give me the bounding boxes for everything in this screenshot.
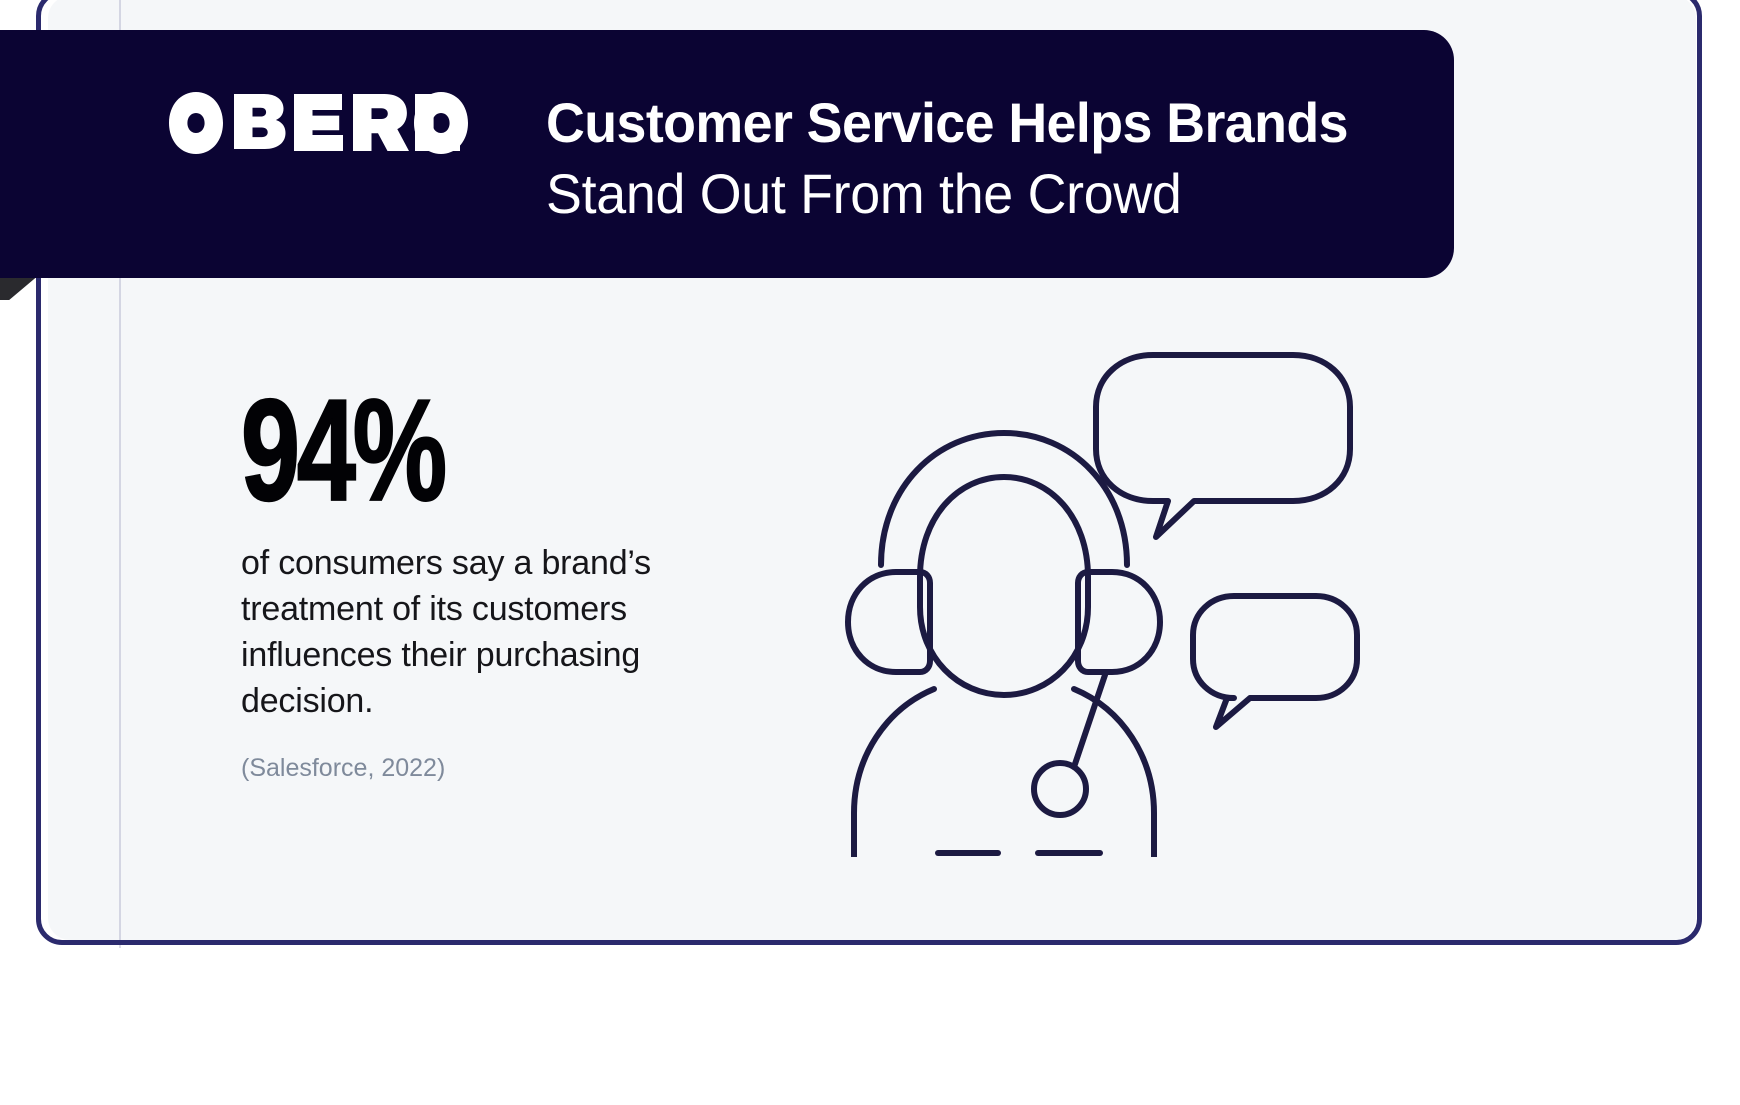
header-title-line-2: Stand Out From the Crowd — [546, 158, 1410, 230]
speech-bubble-small — [1193, 596, 1357, 727]
oberlo-logo — [168, 92, 468, 154]
speech-bubble-large — [1096, 355, 1350, 537]
content-area: 94% of consumers say a brand’s treatment… — [48, 282, 1696, 942]
headset-headband — [881, 433, 1127, 565]
customer-support-illustration — [838, 337, 1378, 857]
stat-description: of consumers say a brand’s treatment of … — [241, 540, 731, 724]
infographic-root: Customer Service Helps Brands Stand Out … — [0, 0, 1740, 1105]
header-title-line-1: Customer Service Helps Brands — [546, 88, 1410, 158]
header-title: Customer Service Helps Brands Stand Out … — [546, 88, 1446, 230]
stat-percentage: 94% — [241, 382, 647, 518]
stat-block: 94% of consumers say a brand’s treatment… — [241, 382, 761, 784]
stat-source-citation: (Salesforce, 2022) — [241, 752, 761, 784]
agent-shoulders — [854, 689, 1154, 857]
headset-microphone-boom — [1034, 672, 1106, 815]
agent-head — [920, 477, 1088, 695]
